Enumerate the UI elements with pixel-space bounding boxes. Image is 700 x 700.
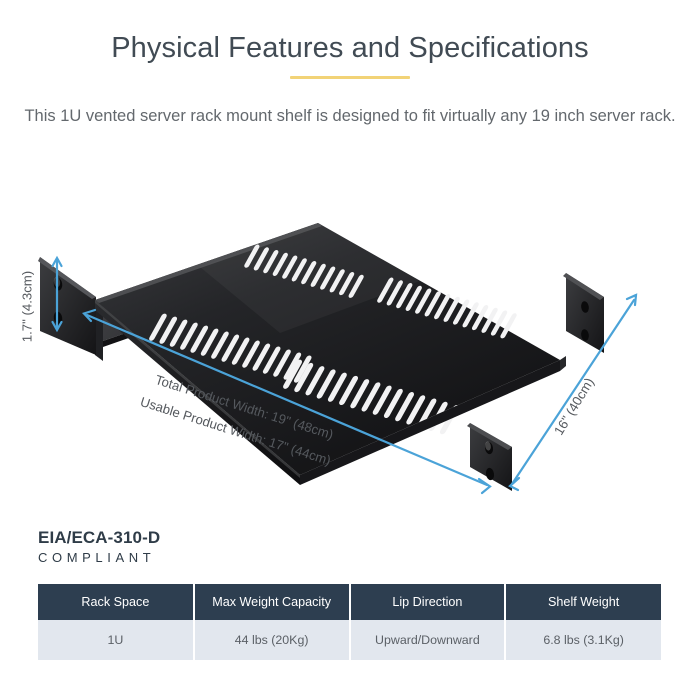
compliance-badge: EIA/ECA-310-D COMPLIANT bbox=[38, 528, 160, 567]
table-row: 1U 44 lbs (20Kg) Upward/Downward 6.8 lbs… bbox=[38, 620, 661, 660]
compliance-word-text: COMPLIANT bbox=[38, 549, 160, 567]
page-subtitle: This 1U vented server rack mount shelf i… bbox=[0, 104, 700, 129]
mounting-ear-left bbox=[38, 257, 96, 355]
cell-lip-direction: Upward/Downward bbox=[350, 620, 506, 660]
column-header-lip-direction: Lip Direction bbox=[350, 584, 506, 620]
compliance-standard-text: EIA/ECA-310-D bbox=[38, 528, 160, 548]
cell-rack-space: 1U bbox=[38, 620, 194, 660]
column-header-shelf-weight: Shelf Weight bbox=[505, 584, 661, 620]
column-header-rack-space: Rack Space bbox=[38, 584, 194, 620]
specification-table: Rack Space Max Weight Capacity Lip Direc… bbox=[38, 584, 661, 660]
cell-shelf-weight: 6.8 lbs (3.1Kg) bbox=[505, 620, 661, 660]
table-header-row: Rack Space Max Weight Capacity Lip Direc… bbox=[38, 584, 661, 620]
product-illustration bbox=[0, 185, 700, 505]
title-accent-underline bbox=[290, 76, 410, 79]
dimension-label-height: 1.7" (4.3cm) bbox=[20, 259, 35, 355]
page-title: Physical Features and Specifications bbox=[0, 32, 700, 65]
mounting-ear-right-front bbox=[467, 423, 512, 491]
cell-max-weight-capacity: 44 lbs (20Kg) bbox=[194, 620, 350, 660]
column-header-max-weight-capacity: Max Weight Capacity bbox=[194, 584, 350, 620]
mounting-ear-right-rear bbox=[563, 273, 604, 353]
